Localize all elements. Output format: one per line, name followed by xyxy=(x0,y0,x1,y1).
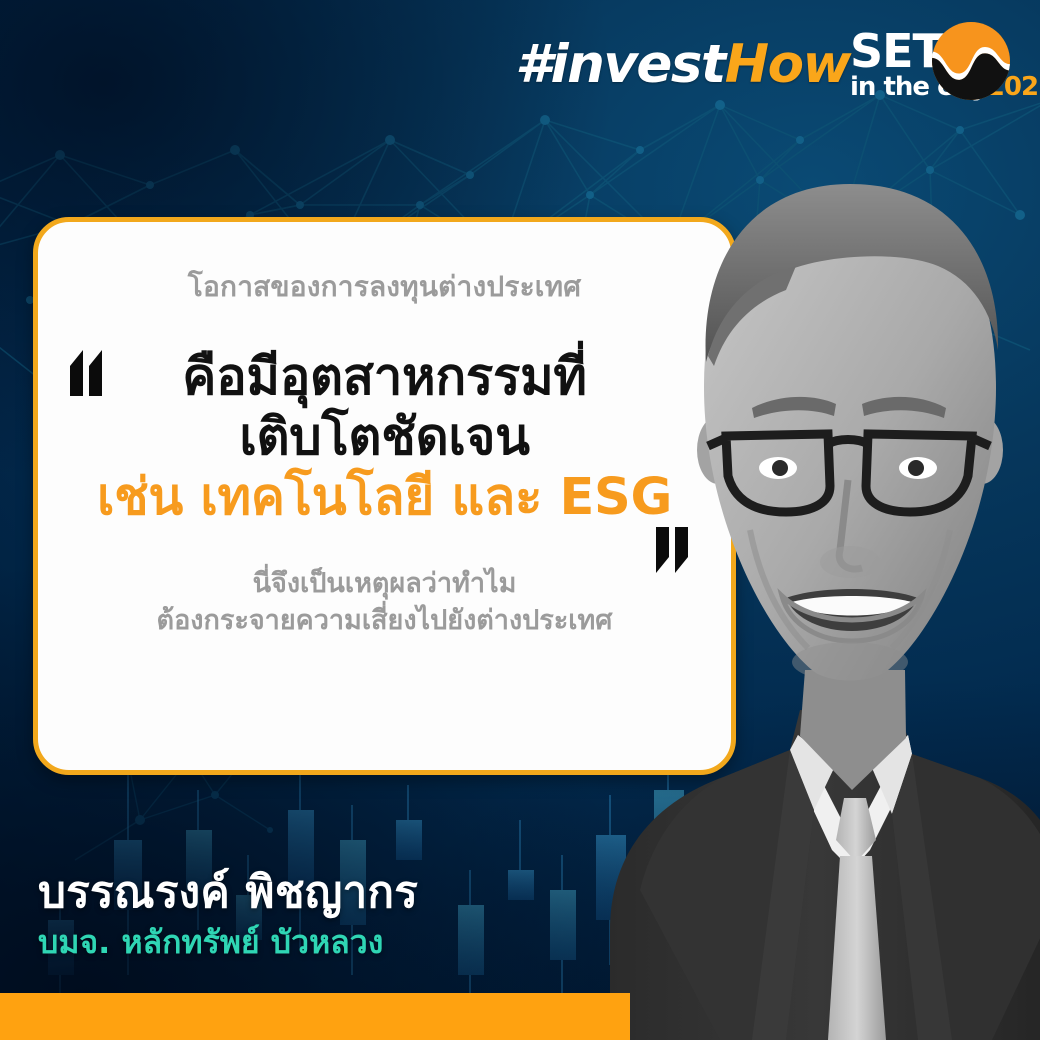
investhow-prefix: #invest xyxy=(515,34,725,95)
header-branding: #investHow SET in the city2021 xyxy=(0,0,1040,140)
speaker-organization: บมจ. หลักทรัพย์ บัวหลวง xyxy=(38,923,638,961)
bottom-accent-bar xyxy=(0,993,630,1040)
open-quote-icon xyxy=(62,350,114,396)
investhow-logo: #investHow xyxy=(515,34,850,95)
set-sun-wave-circle-icon xyxy=(932,22,1010,100)
investhow-suffix: How xyxy=(725,34,850,95)
speaker-name: บรรณรงค์ พิชญากร xyxy=(38,868,638,919)
set-logo-word: SET xyxy=(850,28,943,74)
speaker-portrait xyxy=(600,150,1040,1040)
speaker-info: บรรณรงค์ พิชญากร บมจ. หลักทรัพย์ บัวหลวง xyxy=(38,868,638,961)
set-in-the-city-logo: SET in the city2021 xyxy=(850,22,1010,114)
social-quote-card-image: #investHow SET in the city2021 โอกาสของก… xyxy=(0,0,1040,1040)
